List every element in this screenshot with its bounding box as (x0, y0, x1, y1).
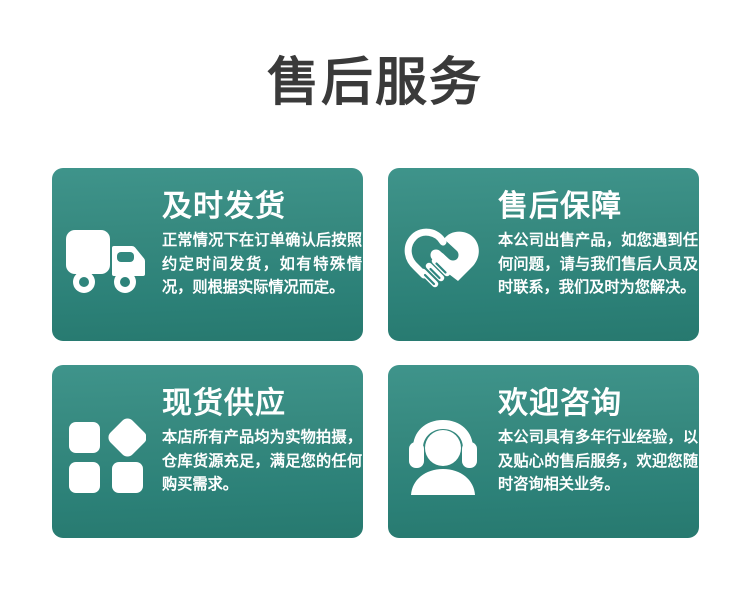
after-sales-service-page: 售后服务 (0, 0, 750, 600)
card-body-text: 正常情况下在订单确认后按照约定时间发货，如有特殊情况，则根据实际情况而定。 (162, 229, 362, 300)
four-squares-icon (52, 365, 162, 538)
service-card-after-sales-guarantee: 售后保障 本公司出售产品，如您遇到任何问题，请与我们售后人员及时联系，我们及时为… (388, 168, 699, 341)
card-body-text: 本店所有产品均为实物拍摄，仓库货源充足，满足您的任何购买需求。 (162, 426, 362, 497)
service-card-grid: 及时发货 正常情况下在订单确认后按照约定时间发货，如有特殊情况，则根据实际情况而… (52, 168, 699, 538)
service-card-timely-shipping: 及时发货 正常情况下在订单确认后按照约定时间发货，如有特殊情况，则根据实际情况而… (52, 168, 363, 341)
handshake-heart-icon (388, 168, 498, 341)
service-card-in-stock-supply: 现货供应 本店所有产品均为实物拍摄，仓库货源充足，满足您的任何购买需求。 (52, 365, 363, 538)
card-body-text: 本公司出售产品，如您遇到任何问题，请与我们售后人员及时联系，我们及时为您解决。 (498, 229, 698, 300)
card-text-column: 及时发货 正常情况下在订单确认后按照约定时间发货，如有特殊情况，则根据实际情况而… (162, 168, 363, 300)
card-text-column: 现货供应 本店所有产品均为实物拍摄，仓库货源充足，满足您的任何购买需求。 (162, 365, 363, 497)
card-text-column: 售后保障 本公司出售产品，如您遇到任何问题，请与我们售后人员及时联系，我们及时为… (498, 168, 699, 300)
card-text-column: 欢迎咨询 本公司具有多年行业经验，以及贴心的售后服务，欢迎您随时咨询相关业务。 (498, 365, 699, 497)
delivery-truck-icon (52, 168, 162, 341)
service-card-welcome-consult: 欢迎咨询 本公司具有多年行业经验，以及贴心的售后服务，欢迎您随时咨询相关业务。 (388, 365, 699, 538)
card-body-text: 本公司具有多年行业经验，以及贴心的售后服务，欢迎您随时咨询相关业务。 (498, 426, 698, 497)
card-heading: 售后保障 (498, 190, 698, 224)
page-title: 售后服务 (0, 52, 750, 114)
card-heading: 欢迎咨询 (498, 387, 698, 421)
card-heading: 现货供应 (162, 387, 362, 421)
card-heading: 及时发货 (162, 190, 362, 224)
headset-agent-icon (388, 365, 498, 538)
